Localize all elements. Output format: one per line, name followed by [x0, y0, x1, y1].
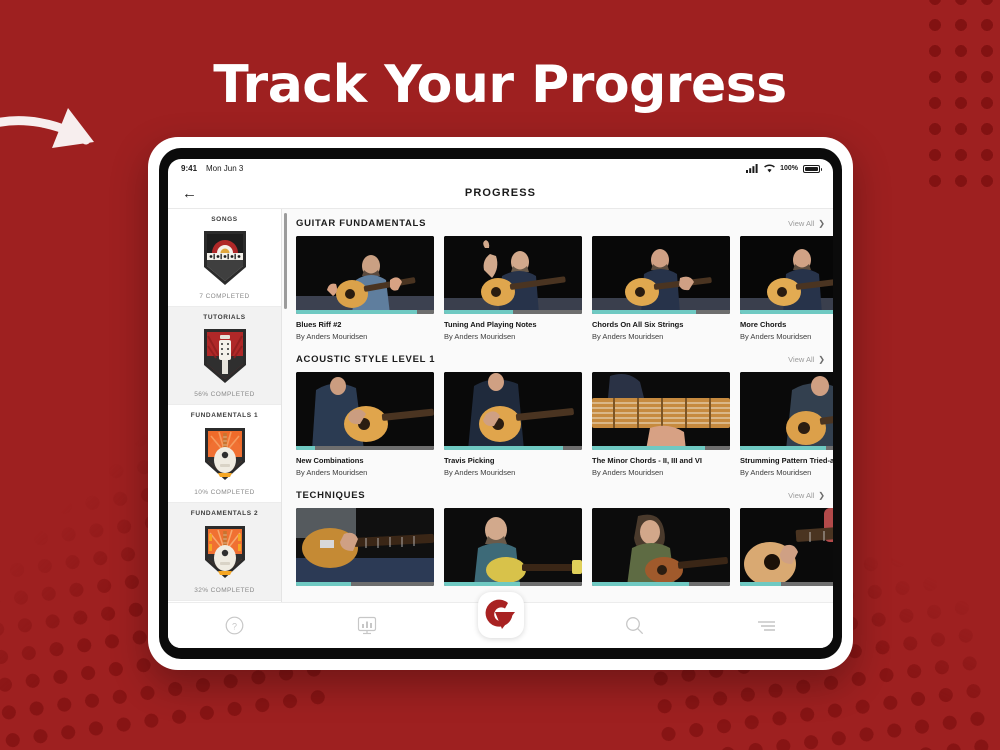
app-body: SONGS	[168, 209, 833, 648]
course-label: FUNDAMENTALS 2	[172, 510, 277, 517]
bottom-navigation: ?	[168, 602, 833, 648]
progress-bar	[296, 582, 434, 586]
progress-bar	[740, 446, 833, 450]
progress-bar	[740, 582, 833, 586]
lesson-card[interactable]: The Minor Chords - II, III and VI By And…	[592, 372, 730, 477]
thumbnail-image	[740, 372, 833, 450]
lesson-author: By Anders Mouridsen	[740, 468, 833, 477]
course-label: TUTORIALS	[172, 314, 277, 321]
sidebar-item-songs[interactable]: SONGS	[168, 209, 281, 307]
lesson-title: More Chords	[740, 320, 833, 329]
thumbnail-image	[444, 236, 582, 314]
help-circle-icon[interactable]: ?	[225, 616, 244, 635]
lesson-card[interactable]	[740, 508, 833, 595]
lesson-card[interactable]: Chords On All Six Strings By Anders Mour…	[592, 236, 730, 341]
card-row	[290, 508, 833, 595]
fundamentals-2-badge-icon	[172, 521, 277, 583]
progress-fill	[444, 446, 563, 450]
status-bar: 9:41 Mon Jun 3 100%	[168, 159, 833, 178]
progress-fill	[444, 310, 513, 314]
screen-title: PROGRESS	[168, 187, 833, 199]
lesson-author: By Anders Mouridsen	[592, 468, 730, 477]
status-time: 9:41	[181, 164, 197, 173]
lesson-thumbnail	[296, 236, 434, 314]
progress-bar	[296, 446, 434, 450]
progress-fill	[296, 310, 417, 314]
progress-fill	[592, 582, 689, 586]
progress-bar	[444, 446, 582, 450]
lesson-thumbnail	[296, 508, 434, 586]
sidebar-item-tutorials[interactable]: TUTORIALS	[168, 307, 281, 405]
progress-fill	[444, 582, 520, 586]
progress-bar	[740, 310, 833, 314]
lesson-author: By Anders Mouridsen	[740, 332, 833, 341]
course-label: FUNDAMENTALS 1	[172, 412, 277, 419]
progress-fill	[740, 310, 833, 314]
lesson-title: The Minor Chords - II, III and VI	[592, 456, 730, 465]
status-date: Mon Jun 3	[206, 164, 243, 173]
progress-bar	[592, 446, 730, 450]
lesson-title: Blues Riff #2	[296, 320, 434, 329]
progress-fill	[740, 582, 781, 586]
lesson-thumbnail	[740, 372, 833, 450]
lesson-title: Chords On All Six Strings	[592, 320, 730, 329]
progress-fill	[592, 310, 696, 314]
card-row: Blues Riff #2 By Anders Mouridsen	[290, 236, 833, 341]
menu-hamburger-icon[interactable]	[757, 619, 776, 633]
thumbnail-image	[740, 508, 833, 586]
lesson-thumbnail	[592, 508, 730, 586]
lesson-title: Tuning And Playing Notes	[444, 320, 582, 329]
lesson-thumbnail	[592, 236, 730, 314]
card-row: New Combinations By Anders Mouridsen	[290, 372, 833, 477]
svg-text:?: ?	[232, 621, 237, 631]
section-header: ACOUSTIC STYLE LEVEL 1 View All ❯	[290, 345, 833, 372]
section-techniques: TECHNIQUES View All ❯	[290, 481, 833, 599]
course-sidebar[interactable]: SONGS	[168, 209, 282, 648]
lesson-thumbnail	[444, 236, 582, 314]
progress-bar	[592, 310, 730, 314]
lesson-thumbnail	[592, 372, 730, 450]
view-all-button[interactable]: View All ❯	[788, 491, 825, 500]
sidebar-item-fundamentals-2[interactable]: FUNDAMENTALS 2	[168, 503, 281, 601]
lesson-author: By Anders Mouridsen	[592, 332, 730, 341]
tablet-device: 9:41 Mon Jun 3 100% ← PROGRESS	[148, 137, 853, 670]
lesson-card[interactable]	[592, 508, 730, 595]
content-scrollbar[interactable]	[284, 213, 287, 309]
thumbnail-image	[296, 236, 434, 314]
battery-full-icon	[803, 165, 820, 173]
thumbnail-image	[740, 236, 833, 314]
course-progress: 7 COMPLETED	[172, 293, 277, 300]
signal-bars-icon	[746, 164, 759, 173]
progress-bar	[444, 582, 582, 586]
section-header: TECHNIQUES View All ❯	[290, 481, 833, 508]
thumbnail-image	[444, 372, 582, 450]
lesson-author: By Anders Mouridsen	[296, 468, 434, 477]
lesson-card[interactable]	[444, 508, 582, 595]
sidebar-item-fundamentals-1[interactable]: FUNDAMENTALS 1	[168, 405, 281, 503]
section-title: ACOUSTIC STYLE LEVEL 1	[296, 354, 435, 365]
tablet-bezel: 9:41 Mon Jun 3 100% ← PROGRESS	[159, 148, 842, 659]
tutorials-badge-icon	[172, 325, 277, 387]
lesson-card[interactable]: More Chords By Anders Mouridsen	[740, 236, 833, 341]
thumbnail-image	[296, 508, 434, 586]
lesson-card[interactable]: New Combinations By Anders Mouridsen	[296, 372, 434, 477]
thumbnail-image	[296, 372, 434, 450]
page-title: Track Your Progress	[0, 55, 1000, 115]
progress-fill	[592, 446, 705, 450]
progress-fill	[296, 582, 351, 586]
lesson-author: By Anders Mouridsen	[444, 468, 582, 477]
chevron-right-icon: ❯	[818, 491, 825, 500]
guitar-tricks-logo-icon[interactable]	[478, 592, 524, 638]
lesson-card[interactable]	[296, 508, 434, 595]
lesson-thumbnail	[296, 372, 434, 450]
view-all-label: View All	[788, 219, 814, 228]
section-acoustic-style-level-1: ACOUSTIC STYLE LEVEL 1 View All ❯	[290, 345, 833, 481]
lesson-thumbnail	[740, 508, 833, 586]
lesson-title: New Combinations	[296, 456, 434, 465]
monitor-chart-icon[interactable]	[357, 616, 377, 635]
course-label: SONGS	[172, 216, 277, 223]
course-progress: 56% COMPLETED	[172, 391, 277, 398]
battery-percent: 100%	[780, 165, 798, 172]
lesson-title: Strumming Pattern Tried-an	[740, 456, 833, 465]
progress-content: GUITAR FUNDAMENTALS View All ❯	[282, 209, 833, 648]
songs-badge-icon	[172, 227, 277, 289]
progress-fill	[296, 446, 315, 450]
search-icon[interactable]	[625, 616, 644, 635]
lesson-author: By Anders Mouridsen	[296, 332, 434, 341]
course-progress: 32% COMPLETED	[172, 587, 277, 594]
section-title: GUITAR FUNDAMENTALS	[296, 218, 426, 229]
section-guitar-fundamentals: GUITAR FUNDAMENTALS View All ❯	[290, 209, 833, 345]
app-header: ← PROGRESS	[168, 178, 833, 209]
view-all-label: View All	[788, 355, 814, 364]
lesson-author: By Anders Mouridsen	[444, 332, 582, 341]
section-header: GUITAR FUNDAMENTALS View All ❯	[290, 209, 833, 236]
progress-bar	[296, 310, 434, 314]
lesson-card[interactable]: Travis Picking By Anders Mouridsen	[444, 372, 582, 477]
lesson-card[interactable]: Tuning And Playing Notes By Anders Mouri…	[444, 236, 582, 341]
lesson-card[interactable]: Blues Riff #2 By Anders Mouridsen	[296, 236, 434, 341]
thumbnail-image	[592, 236, 730, 314]
view-all-label: View All	[788, 491, 814, 500]
course-progress: 10% COMPLETED	[172, 489, 277, 496]
lesson-thumbnail	[740, 236, 833, 314]
progress-bar	[592, 582, 730, 586]
progress-bar	[444, 310, 582, 314]
progress-fill	[740, 446, 826, 450]
view-all-button[interactable]: View All ❯	[788, 355, 825, 364]
fundamentals-1-badge-icon	[172, 423, 277, 485]
thumbnail-image	[592, 372, 730, 450]
lesson-thumbnail	[444, 372, 582, 450]
thumbnail-image	[444, 508, 582, 586]
curved-arrow-icon	[0, 98, 132, 178]
lesson-card[interactable]: Strumming Pattern Tried-an By Anders Mou…	[740, 372, 833, 477]
chevron-right-icon: ❯	[818, 219, 825, 228]
section-title: TECHNIQUES	[296, 490, 365, 501]
thumbnail-image	[592, 508, 730, 586]
tablet-screen: 9:41 Mon Jun 3 100% ← PROGRESS	[168, 159, 833, 648]
chevron-right-icon: ❯	[818, 355, 825, 364]
view-all-button[interactable]: View All ❯	[788, 219, 825, 228]
wifi-icon	[764, 164, 775, 173]
lesson-title: Travis Picking	[444, 456, 582, 465]
lesson-thumbnail	[444, 508, 582, 586]
